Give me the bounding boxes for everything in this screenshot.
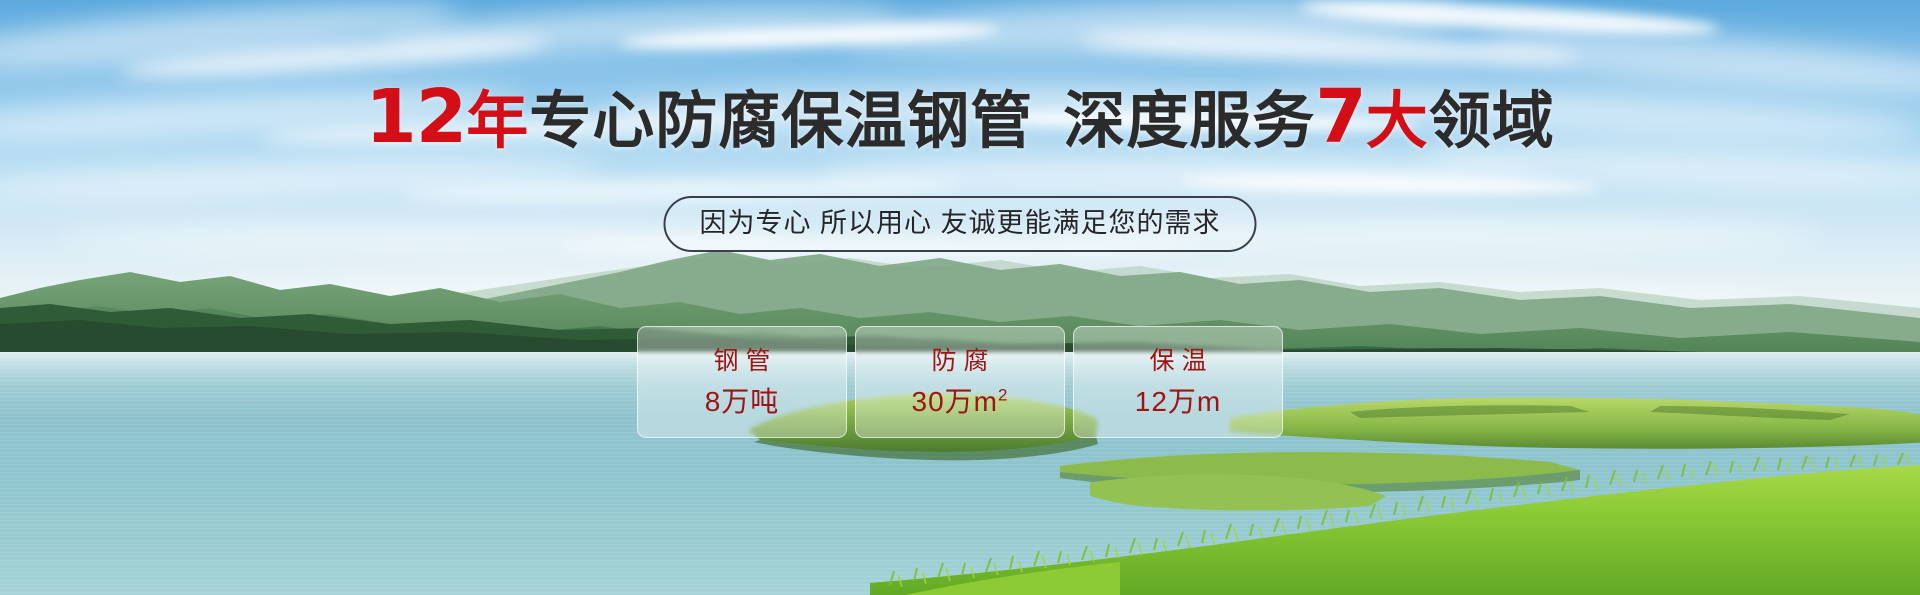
stat-card-group: 钢管 8万吨 防腐 30万m2 保温 12万m (637, 326, 1283, 438)
grass-wedge-center (880, 560, 1120, 595)
stat-card-title: 保温 (1142, 349, 1213, 374)
headline-years-unit: 年 (466, 87, 529, 156)
headline-fields-text: 领域 (1429, 87, 1555, 156)
headline-service-text: 深度服务 (1063, 87, 1315, 156)
stat-card-value-text: 12万m (1135, 386, 1221, 417)
headline-fields-number: 7 (1315, 74, 1366, 160)
stat-card-value-sup: 2 (998, 385, 1008, 404)
stat-card-value-text: 8万吨 (705, 386, 780, 417)
headline-main-text: 专心防腐保温钢管 (529, 87, 1033, 156)
stat-card-title: 防腐 (924, 349, 995, 374)
hero-banner: 12年专心防腐保温钢管深度服务7大领域 因为专心 所以用心 友诚更能满足您的需求… (0, 0, 1920, 595)
stat-card-value: 30万m2 (912, 388, 1009, 416)
stat-card-title: 钢管 (706, 349, 777, 374)
headline-years-number: 12 (365, 74, 466, 160)
stat-card-anticorrosion[interactable]: 防腐 30万m2 (855, 326, 1065, 438)
stat-card-steel-pipe[interactable]: 钢管 8万吨 (637, 326, 847, 438)
headline-fields-unit: 大 (1366, 87, 1429, 156)
headline: 12年专心防腐保温钢管深度服务7大领域 (0, 86, 1920, 153)
stat-card-value: 12万m (1135, 388, 1221, 416)
subtitle-pill: 因为专心 所以用心 友诚更能满足您的需求 (663, 196, 1256, 252)
stat-card-value: 8万吨 (705, 388, 780, 416)
stat-card-insulation[interactable]: 保温 12万m (1073, 326, 1283, 438)
stat-card-value-text: 30万m (912, 386, 998, 417)
